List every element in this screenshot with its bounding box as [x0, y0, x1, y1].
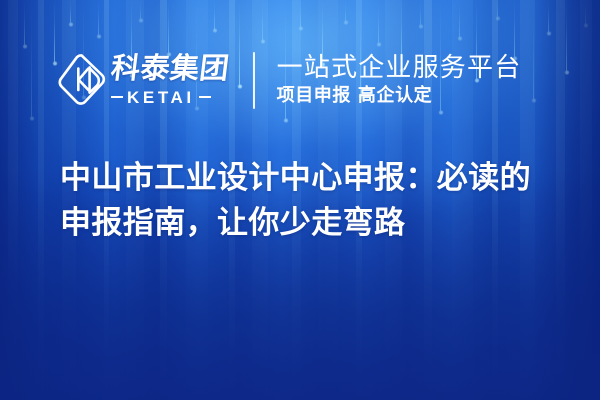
- logo-wordmark: 科泰集团 KETAI: [111, 55, 229, 106]
- light-streak-icon: [585, 0, 586, 25]
- logo-company-name-cn: 科泰集团: [109, 55, 231, 84]
- page-title: 中山市工业设计中心申报：必读的申报指南，让你少走弯路: [60, 156, 560, 245]
- light-streak-icon: [24, 0, 25, 46]
- background-band: [38, 0, 44, 400]
- light-streak-icon: [300, 0, 301, 28]
- logo-dash-right-icon: [199, 96, 211, 98]
- light-streak-icon: [420, 0, 421, 26]
- banner-header: 科泰集团 KETAI 一站式企业服务平台 项目申报 高企认定: [58, 44, 521, 116]
- background-band: [580, 0, 592, 400]
- light-streak-icon: [548, 0, 549, 33]
- logo-company-name-en: KETAI: [127, 89, 195, 106]
- light-streak-icon: [566, 0, 567, 72]
- light-streak-icon: [378, 0, 379, 44]
- ketai-diamond-kd-monogram-icon: [58, 52, 106, 108]
- tagline-secondary: 项目申报 高企认定: [277, 86, 522, 106]
- tagline-primary: 一站式企业服务平台: [277, 54, 522, 83]
- light-streak-icon: [140, 0, 141, 20]
- background-band: [8, 0, 18, 400]
- light-streak-icon: [345, 0, 346, 22]
- light-streak-icon: [533, 0, 534, 100]
- light-streak-icon: [214, 0, 215, 30]
- light-streak-icon: [70, 0, 71, 24]
- light-streak-icon: [262, 0, 263, 41]
- light-streak-icon: [497, 0, 498, 18]
- light-streak-icon: [54, 0, 55, 63]
- logo-english-row: KETAI: [111, 89, 229, 106]
- light-streak-icon: [459, 0, 460, 38]
- header-tagline: 一站式企业服务平台 项目申报 高企认定: [277, 54, 522, 106]
- header-divider: [253, 52, 255, 109]
- light-streak-icon: [98, 0, 99, 36]
- promo-banner: 科泰集团 KETAI 一站式企业服务平台 项目申报 高企认定 中山市工业设计中心…: [0, 0, 600, 400]
- light-streak-icon: [31, 0, 32, 118]
- logo-dash-left-icon: [111, 96, 123, 98]
- brand-logo[interactable]: 科泰集团 KETAI: [58, 52, 229, 108]
